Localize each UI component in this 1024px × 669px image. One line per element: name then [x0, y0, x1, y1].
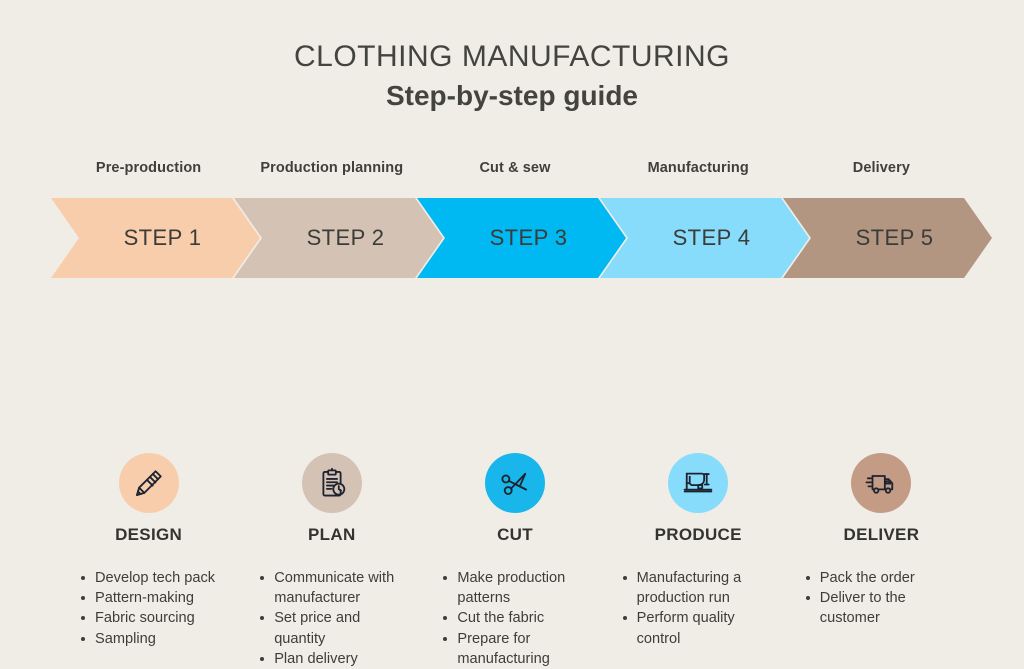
step-arrow-5[interactable]: STEP 5 — [783, 198, 992, 278]
list-item: Deliver to the customer — [806, 588, 953, 628]
step-arrow-2[interactable]: STEP 2 — [234, 198, 443, 278]
phase-label-1: Pre-production — [57, 160, 240, 182]
step-arrow-1[interactable]: STEP 1 — [51, 198, 260, 278]
step-name-2: PLAN — [240, 525, 423, 545]
step-column-4: Manufacturing PRODUCE — [607, 160, 790, 182]
bullet-list-4: Manufacturing a production run Perform q… — [607, 568, 790, 649]
step-arrow-label: STEP 1 — [110, 225, 202, 251]
list-item: Cut the fabric — [443, 608, 586, 628]
step-column-1: Pre-production DESIGN Develop tech pack … — [57, 160, 240, 182]
phase-label-3: Cut & sew — [423, 160, 606, 182]
icon-wrap-5 — [790, 453, 973, 513]
list-item: Prepare for manufacturing — [443, 629, 586, 669]
bullet-list-3: Make production patterns Cut the fabric … — [423, 568, 606, 669]
step-column-3: Cut & sew CUT Make production patterns C… — [423, 160, 606, 182]
list-item: Perform quality control — [623, 608, 770, 648]
bullet-list-5: Pack the order Deliver to the customer — [790, 568, 973, 629]
page-title: CLOTHING MANUFACTURING Step-by-step guid… — [0, 38, 1024, 114]
list-item: Fabric sourcing — [81, 608, 220, 628]
steps-grid: Pre-production DESIGN Develop tech pack … — [57, 160, 973, 182]
icon-wrap-3 — [423, 453, 606, 513]
step-name-5: DELIVER — [790, 525, 973, 545]
step-arrow-label: STEP 2 — [293, 225, 385, 251]
list-item: Sampling — [81, 629, 220, 649]
icon-wrap-2 — [240, 453, 423, 513]
step-arrow-3[interactable]: STEP 3 — [417, 198, 626, 278]
step-arrow-label: STEP 3 — [476, 225, 568, 251]
clipboard-clock-icon — [302, 453, 362, 513]
bullet-list-2: Communicate with manufacturer Set price … — [240, 568, 423, 669]
icon-wrap-1 — [57, 453, 240, 513]
bullet-list-1: Develop tech pack Pattern-making Fabric … — [57, 568, 240, 649]
list-item: Pattern-making — [81, 588, 220, 608]
list-item: Plan delivery — [260, 649, 403, 669]
step-arrow-row: STEP 1 STEP 2 STEP 3 STEP 4 STEP 5 — [51, 198, 976, 278]
list-item: Pack the order — [806, 568, 953, 588]
step-name-1: DESIGN — [57, 525, 240, 545]
title-subtitle: Step-by-step guide — [0, 78, 1024, 114]
phase-label-2: Production planning — [240, 160, 423, 182]
phase-label-4: Manufacturing — [607, 160, 790, 182]
scissors-icon — [485, 453, 545, 513]
phase-label-5: Delivery — [790, 160, 973, 182]
sewing-machine-icon — [668, 453, 728, 513]
icon-wrap-4 — [607, 453, 790, 513]
title-main: CLOTHING MANUFACTURING — [0, 38, 1024, 76]
pencil-icon — [119, 453, 179, 513]
step-name-3: CUT — [423, 525, 606, 545]
step-column-5: Delivery DELIVER Pack the order — [790, 160, 973, 182]
step-name-4: PRODUCE — [607, 525, 790, 545]
list-item: Make production patterns — [443, 568, 586, 608]
step-column-2: Production planning PLAN Communic — [240, 160, 423, 182]
list-item: Develop tech pack — [81, 568, 220, 588]
delivery-truck-icon — [851, 453, 911, 513]
step-arrow-label: STEP 5 — [842, 225, 934, 251]
step-arrow-label: STEP 4 — [659, 225, 751, 251]
step-arrow-4[interactable]: STEP 4 — [600, 198, 809, 278]
list-item: Communicate with manufacturer — [260, 568, 403, 608]
list-item: Manufacturing a production run — [623, 568, 770, 608]
list-item: Set price and quantity — [260, 608, 403, 648]
